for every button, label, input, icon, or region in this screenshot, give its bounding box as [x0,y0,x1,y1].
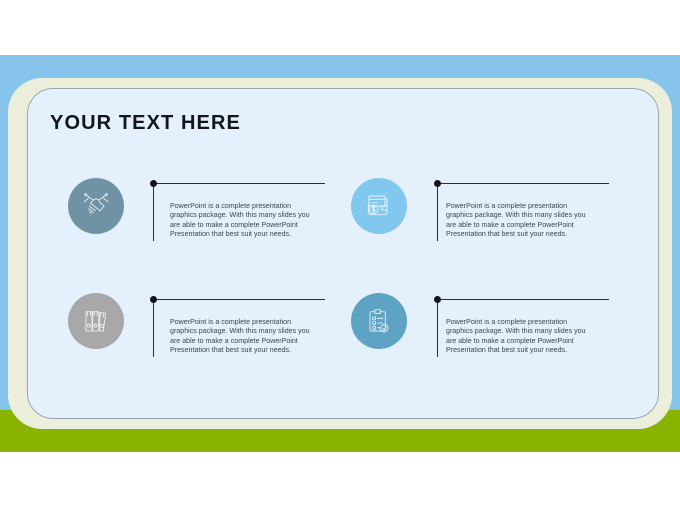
content-card [27,88,659,419]
feature-text-1: PowerPoint is a complete presentation gr… [170,202,318,240]
connector-dot-3 [150,296,157,303]
connector-vertical-3 [153,299,154,357]
connector-vertical-2 [437,183,438,241]
connector-dot-4 [434,296,441,303]
slide-canvas: YOUR TEXT HERE [0,0,680,510]
connector-horizontal-4 [437,299,609,300]
feature-text-3: PowerPoint is a complete presentation gr… [170,318,318,356]
page-title: YOUR TEXT HERE [50,112,241,135]
icon-circle-wallet[interactable] [351,178,407,234]
wallet-card-money-icon [363,190,395,222]
connector-vertical-4 [437,299,438,357]
icon-circle-clipboard[interactable] [351,293,407,349]
connector-horizontal-2 [437,183,609,184]
icon-circle-binders[interactable] [68,293,124,349]
icon-circle-handshake[interactable] [68,178,124,234]
connector-dot-2 [434,180,441,187]
connector-dot-1 [150,180,157,187]
feature-text-4: PowerPoint is a complete presentation gr… [446,318,594,356]
clipboard-checklist-icon [363,305,395,337]
connector-vertical-1 [153,183,154,241]
feature-text-2: PowerPoint is a complete presentation gr… [446,202,594,240]
connector-horizontal-1 [153,183,325,184]
handshake-icon [80,190,112,222]
connector-horizontal-3 [153,299,325,300]
binders-archive-icon [80,305,112,337]
